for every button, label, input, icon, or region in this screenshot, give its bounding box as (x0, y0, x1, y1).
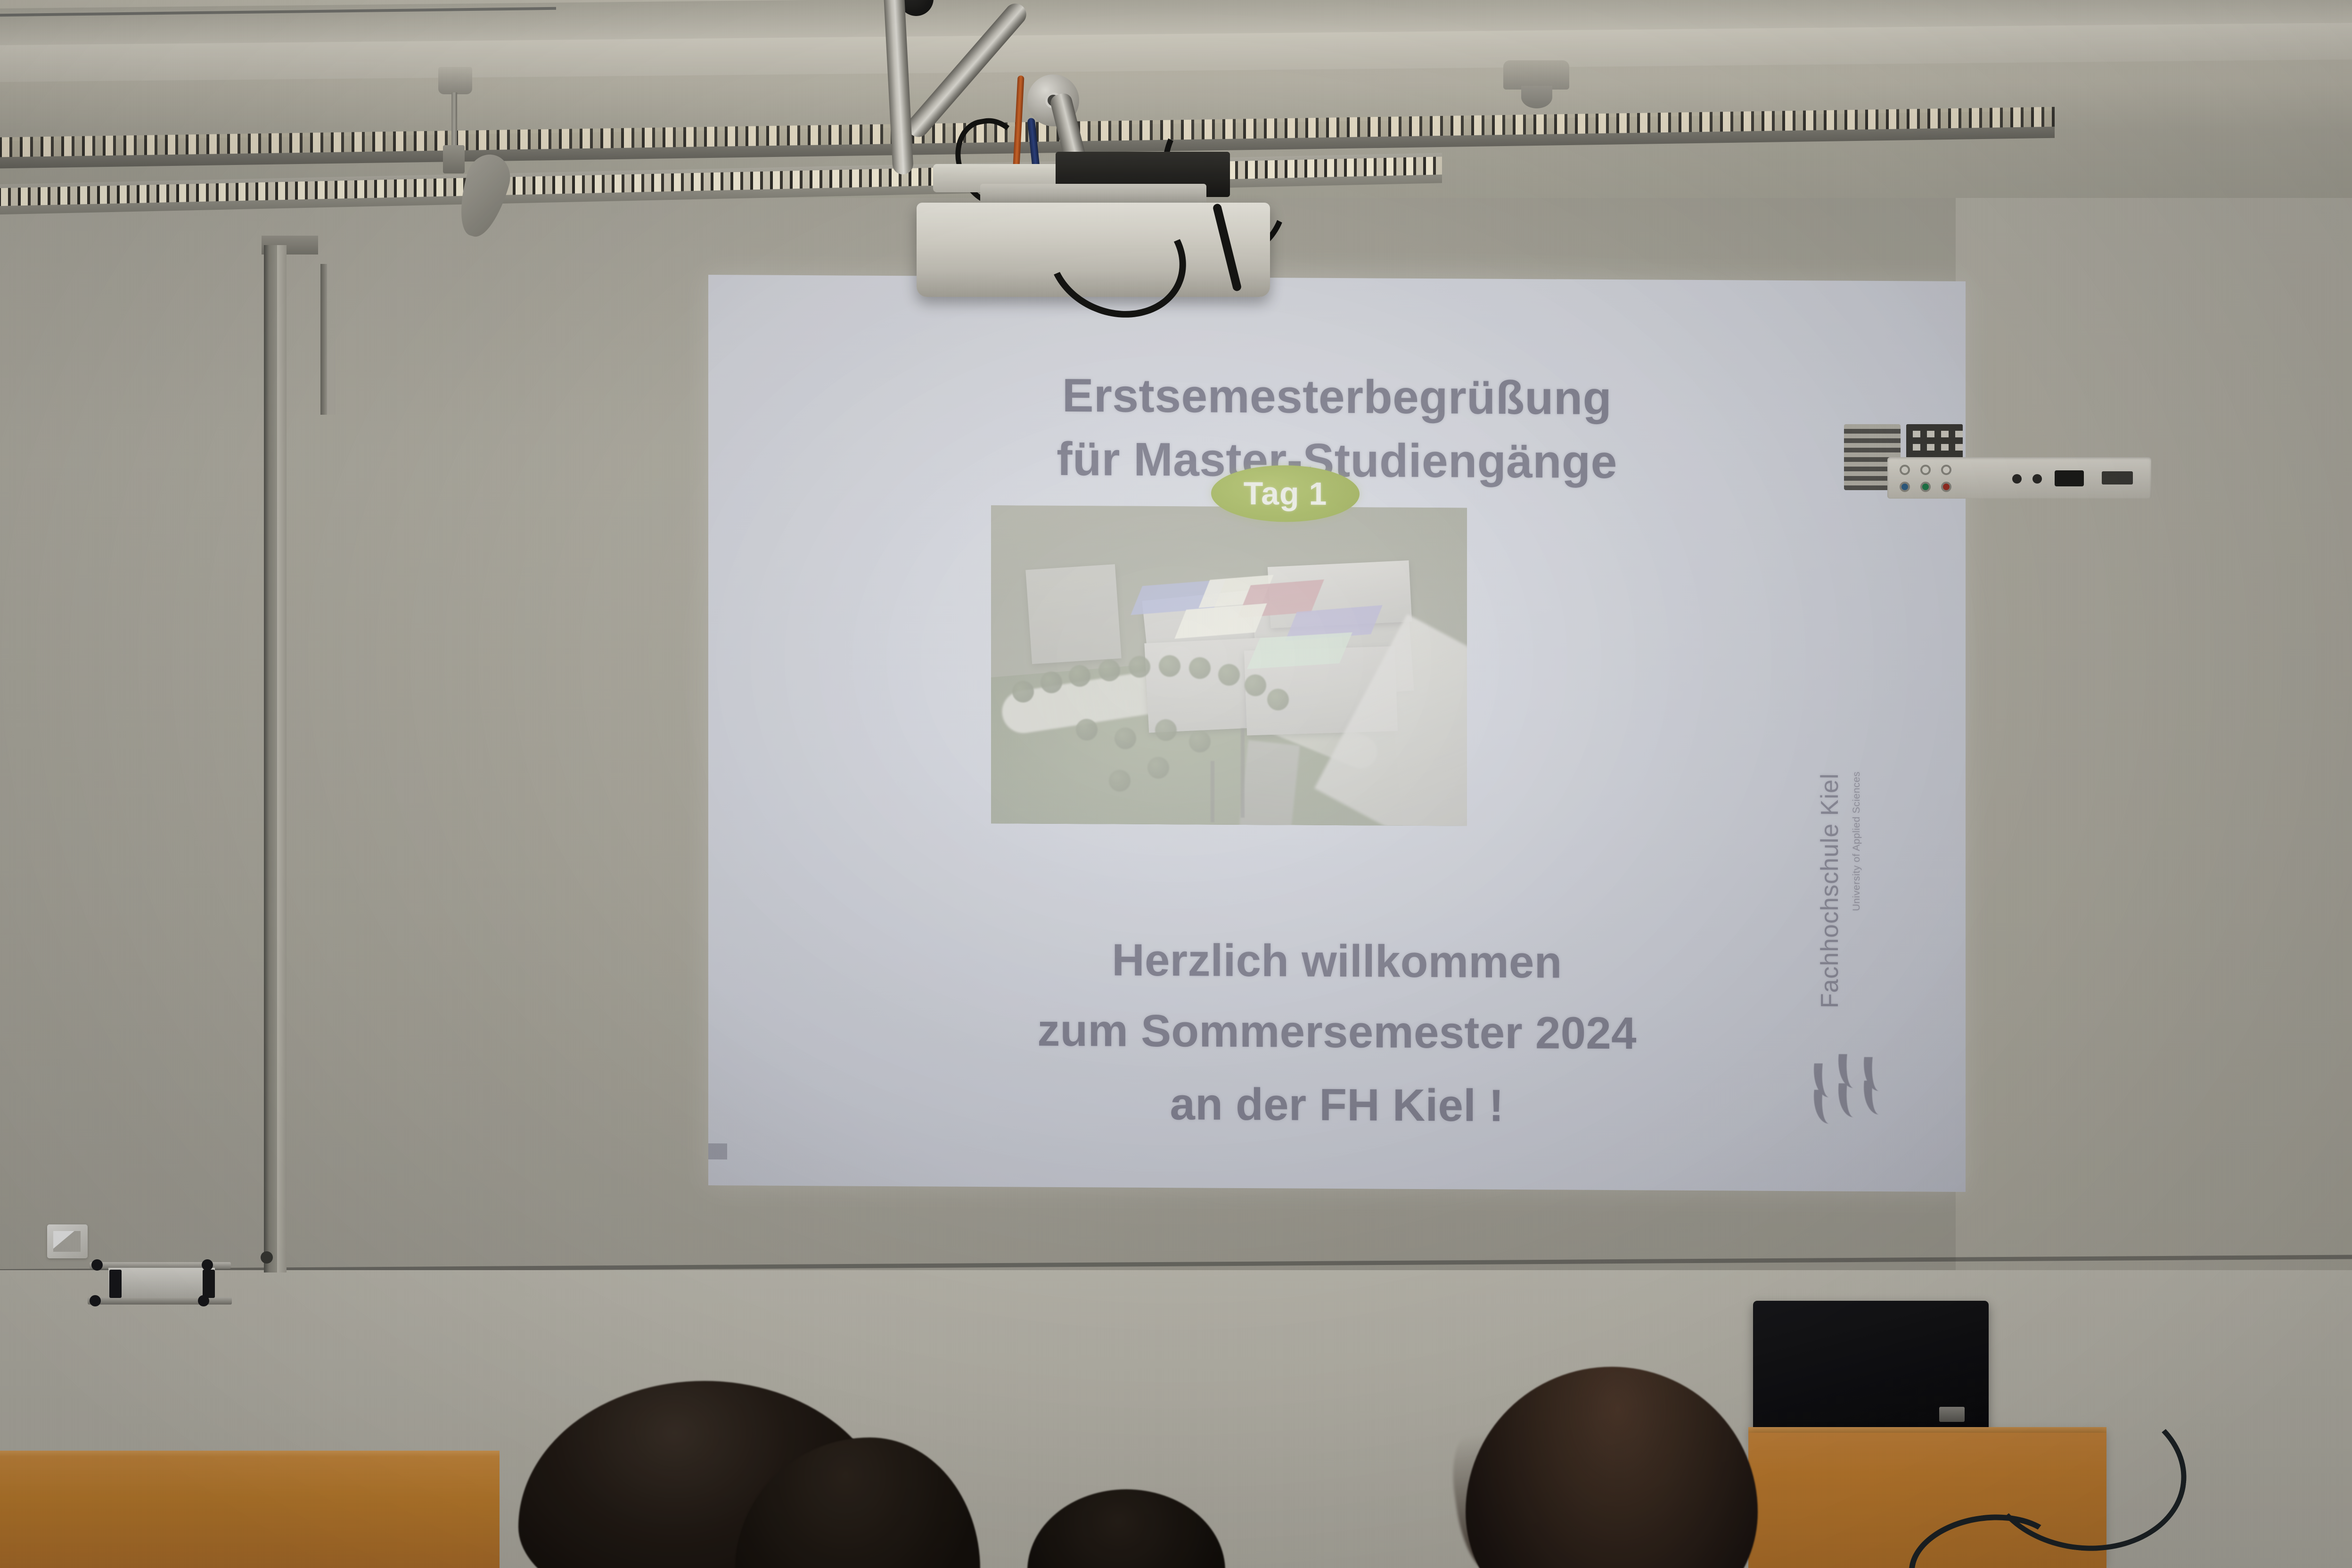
photo-tree (1012, 681, 1034, 702)
photo-tree (1218, 664, 1240, 686)
photo-tree (1129, 656, 1150, 678)
brand-subtitle: University of Applied Sciences (1851, 772, 1862, 911)
campus-aerial-photo (991, 505, 1467, 826)
photo-tree (1159, 655, 1180, 677)
photo-pole (1211, 761, 1214, 822)
photo-tree (1189, 731, 1211, 752)
column-nub (261, 1251, 273, 1264)
wall-column-face (277, 245, 287, 1272)
wall-rail-light (327, 264, 336, 415)
marker-tray-knob (90, 1295, 101, 1306)
photo-tree (1076, 719, 1098, 740)
marker-tray-bottom-rail (88, 1297, 232, 1305)
photo-tree (1115, 728, 1136, 749)
photo-tree (1069, 665, 1090, 687)
brand-name: Fachhochschule Kiel (1816, 773, 1844, 1008)
photo-tree (1109, 770, 1131, 791)
pendant-body (443, 145, 465, 173)
fh-kiel-waves-logo-icon (1811, 1051, 1890, 1122)
pendant-rod (451, 92, 457, 149)
slide-edge-artifact (708, 1143, 727, 1159)
photo-building-6 (1025, 564, 1121, 664)
projection-screen: Erstsemesterbegrüßung für Master-Studien… (708, 275, 1966, 1192)
wall-rail-dark (320, 264, 327, 415)
marker-tray-knob (91, 1259, 103, 1271)
tag-badge-label: Tag 1 (1244, 475, 1328, 512)
right-wall-panel (1956, 198, 2352, 1282)
wall-light-switch-rocker[interactable] (53, 1231, 81, 1252)
photo-tree (1189, 657, 1211, 679)
slide-footer-line-3: an der FH Kiel ! (708, 1076, 1966, 1134)
photo-tree (1098, 659, 1120, 681)
wall-column-edge (264, 245, 277, 1272)
marker-tray-knob (202, 1259, 213, 1271)
photo-tree (1041, 672, 1062, 693)
slide-title-line-1: Erstsemesterbegrüßung (708, 367, 1966, 427)
photo-tree (1155, 719, 1177, 741)
smoke-detector-dome (1521, 86, 1552, 108)
photo-tree (1147, 757, 1169, 779)
projector-port-panel (1887, 457, 2151, 499)
photo-pole (1241, 728, 1245, 818)
fh-kiel-brand: Fachhochschule Kiel University of Applie… (1804, 749, 1908, 1150)
slide-footer-line-1: Herzlich willkommen (708, 932, 1966, 991)
photo-tree (1245, 674, 1266, 696)
marker-tray-knob (198, 1295, 209, 1306)
monitor-brand-badge (1939, 1407, 1965, 1422)
tag-badge: Tag 1 (1211, 465, 1360, 523)
lecture-hall-photo: Erstsemesterbegrüßung für Master-Studien… (0, 0, 2352, 1568)
photo-tree (1267, 689, 1289, 710)
front-table (0, 1456, 500, 1568)
marker-tray-plate (108, 1268, 215, 1297)
slide-footer-line-2: zum Sommersemester 2024 (708, 1003, 1966, 1061)
pendant-ceiling-cup (438, 67, 472, 94)
marker-tray-bracket-left (109, 1270, 122, 1298)
marker-tray-bracket-right (203, 1270, 215, 1298)
smoke-detector-icon (1503, 60, 1569, 90)
